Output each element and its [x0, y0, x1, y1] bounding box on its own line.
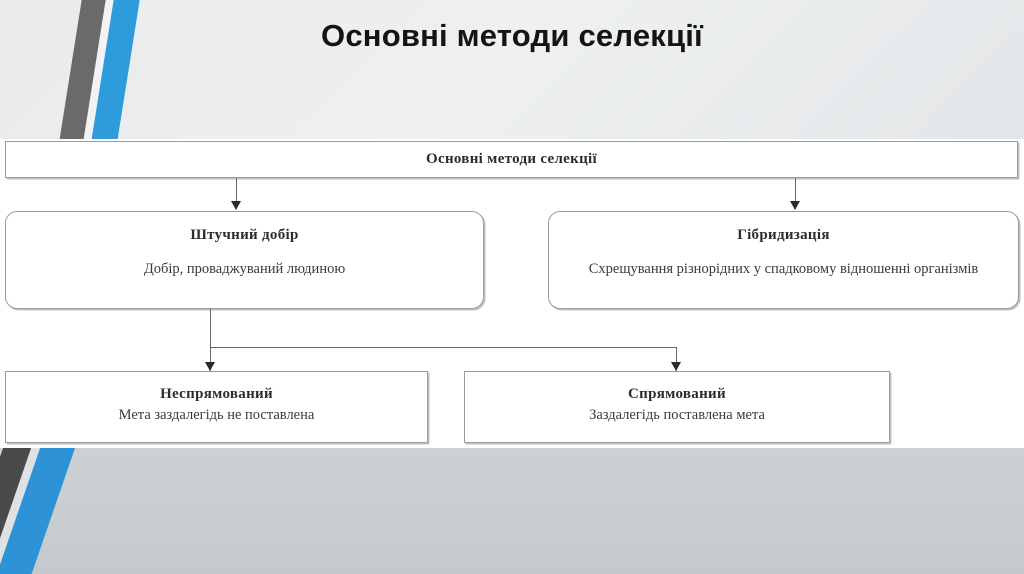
diagram-canvas: Основні методи селекції Штучний добір До… — [0, 139, 1024, 448]
decorative-bottom-band — [0, 448, 1024, 574]
slide-title: Основні методи селекції — [0, 18, 1024, 54]
arrowhead-root-to-selection — [231, 201, 241, 210]
node-root: Основні методи селекції — [5, 141, 1018, 178]
node-artificial-selection-title: Штучний добір — [6, 227, 483, 244]
node-undirected: Неспрямований Мета заздалегідь не постав… — [5, 371, 428, 443]
node-artificial-selection-desc: Добір, проваджуваний людиною — [6, 260, 483, 280]
node-directed: Спрямований Заздалегідь поставлена мета — [464, 371, 890, 443]
node-hybridization-title: Гібридизація — [549, 227, 1018, 244]
node-root-title: Основні методи селекції — [426, 151, 597, 168]
node-hybridization-desc: Схрещування різнорідних у спадковому від… — [549, 260, 1018, 280]
connector-branch-horizontal — [210, 347, 677, 348]
arrowhead-to-directed — [671, 362, 681, 371]
node-directed-desc: Заздалегідь поставлена мета — [465, 406, 889, 426]
arrowhead-to-undirected — [205, 362, 215, 371]
slide: Основні методи селекції Основні методи с… — [0, 0, 1024, 574]
arrowhead-root-to-hybridization — [790, 201, 800, 210]
node-hybridization: Гібридизація Схрещування різнорідних у с… — [548, 211, 1019, 309]
node-directed-title: Спрямований — [465, 386, 889, 403]
node-artificial-selection: Штучний добір Добір, проваджуваний людин… — [5, 211, 484, 309]
node-undirected-desc: Мета заздалегідь не поставлена — [6, 406, 427, 426]
node-undirected-title: Неспрямований — [6, 386, 427, 403]
